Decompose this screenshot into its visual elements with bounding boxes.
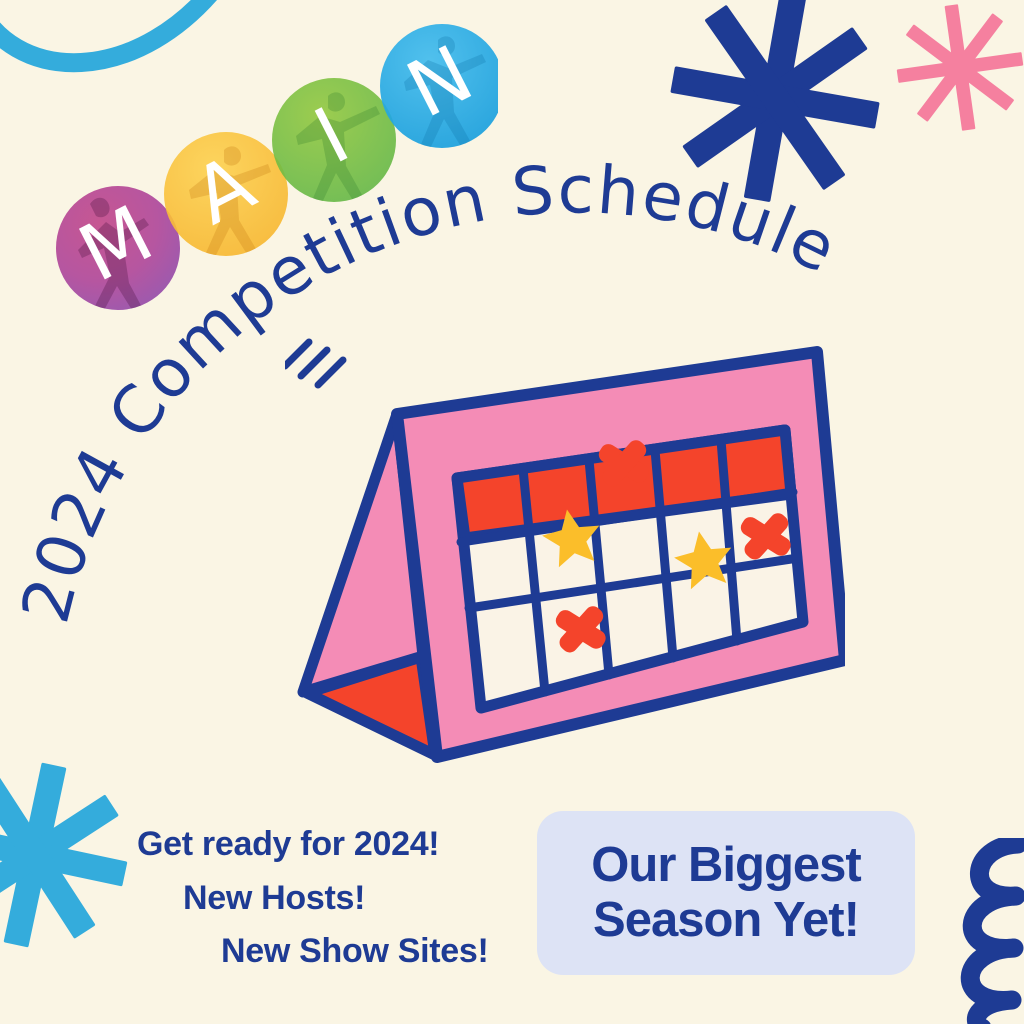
highlight-card-text: Our Biggest Season Yet!: [591, 838, 860, 948]
calendar-illustration: [285, 330, 845, 790]
highlight-line-1: Our Biggest: [591, 838, 860, 893]
navy-squiggle-icon: [930, 838, 1024, 1024]
highlight-card: Our Biggest Season Yet!: [537, 811, 915, 975]
tagline-block: Get ready for 2024! New Hosts! New Show …: [105, 818, 535, 979]
poster-canvas: M A I N: [0, 0, 1024, 1024]
sparkle-lines-icon: [285, 342, 343, 385]
logo-circle-n: N: [380, 24, 498, 153]
tagline-line-1: Get ready for 2024!: [105, 818, 535, 872]
tagline-line-3: New Show Sites!: [105, 925, 535, 979]
tagline-line-2: New Hosts!: [105, 872, 535, 926]
pink-asterisk-icon: [880, 0, 1024, 135]
highlight-line-2: Season Yet!: [591, 893, 860, 948]
